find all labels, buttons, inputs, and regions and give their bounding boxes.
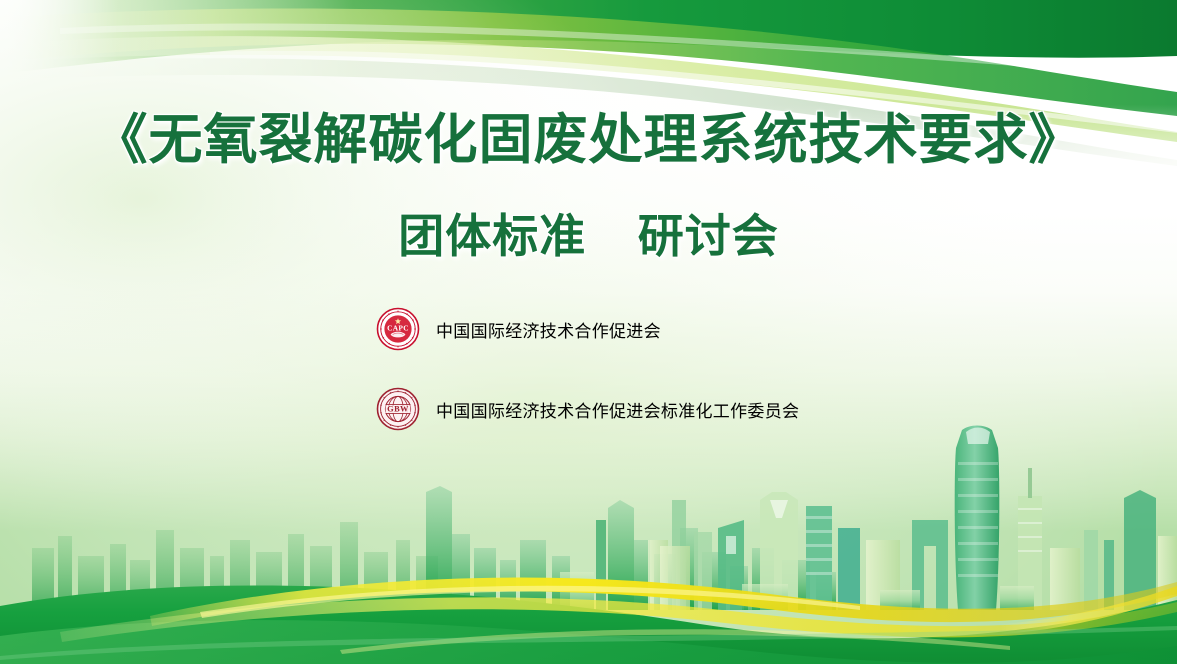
organization-list: CAPC [376,305,799,433]
capc-seal-icon: CAPC [376,307,420,351]
sub-title: 团体标准 研讨会 [0,174,1177,266]
organization-row: GBW [376,385,799,433]
title-block: 《无氧裂解碳化固废处理系统技术要求》 团体标准 研讨会 [0,108,1177,266]
organization-name: 中国国际经济技术合作促进会标准化工作委员会 [436,397,799,422]
svg-text:GBW: GBW [387,405,409,414]
sub-title-part2: 研讨会 [638,210,779,262]
organization-row: CAPC [376,305,799,353]
organization-name: 中国国际经济技术合作促进会 [436,317,661,342]
svg-text:CAPC: CAPC [387,324,409,333]
presentation-slide: 《无氧裂解碳化固废处理系统技术要求》 团体标准 研讨会 [0,0,1177,664]
gbw-seal-icon: GBW [376,387,420,431]
main-title: 《无氧裂解碳化固废处理系统技术要求》 [0,108,1177,174]
sub-title-part1: 团体标准 [398,210,586,262]
